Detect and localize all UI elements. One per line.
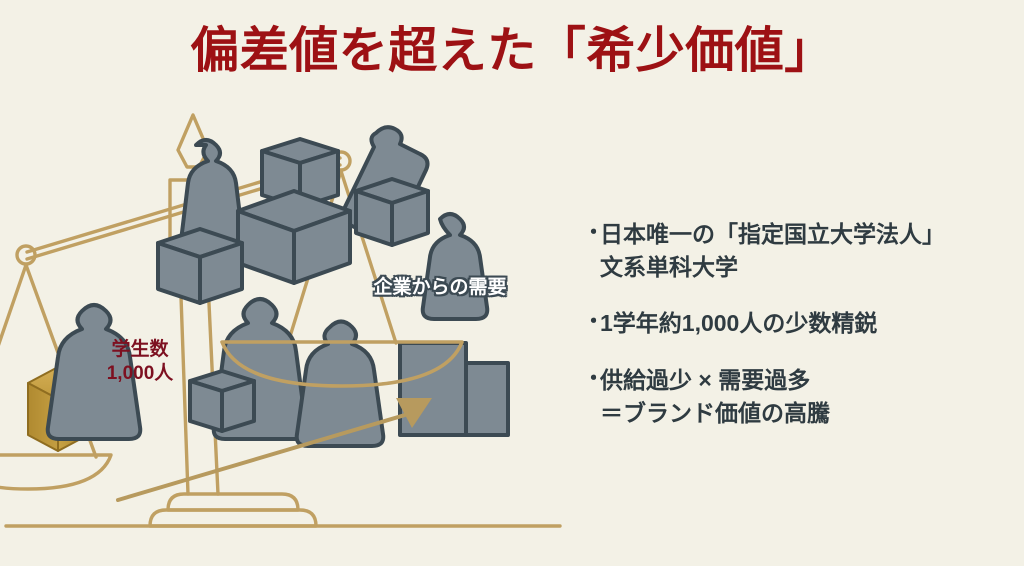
weight-mid-right (423, 214, 488, 319)
bullet-text-3: 供給過少 × 需要過多 ＝ブランド価値の高騰 (600, 364, 1008, 429)
left-pan-label: 学生数 1,000人 (55, 338, 225, 387)
cube-mid-left (158, 229, 242, 303)
block-wide-right (466, 363, 508, 435)
bullet-text-2: 1学年約1,000人の少数精鋭 (600, 307, 1008, 340)
bullet-marker-icon: ・ (583, 364, 600, 394)
bullet-text-1: 日本唯一の「指定国立大学法人」 文系単科大学 (600, 218, 1008, 283)
bullet-list: ・ 日本唯一の「指定国立大学法人」 文系単科大学 ・ 1学年約1,000人の少数… (583, 218, 1008, 453)
balance-scale-illustration (0, 95, 570, 565)
left-string-a (0, 265, 26, 457)
cube-upper-right (356, 179, 428, 245)
left-pan-bowl (0, 455, 111, 489)
bullet-marker-icon: ・ (583, 307, 600, 337)
base-upper (168, 494, 298, 510)
slide-canvas: 偏差値を超えた「希少価値」 (0, 0, 1024, 566)
left-beam-pivot (17, 246, 35, 264)
base-lower (150, 510, 316, 526)
bullet-item-1: ・ 日本唯一の「指定国立大学法人」 文系単科大学 (583, 218, 1008, 283)
bullet-item-2: ・ 1学年約1,000人の少数精鋭 (583, 307, 1008, 340)
right-pan-label: 企業からの需要 (340, 278, 540, 299)
bullet-marker-icon: ・ (583, 218, 600, 248)
bullet-item-3: ・ 供給過少 × 需要過多 ＝ブランド価値の高騰 (583, 364, 1008, 429)
page-title: 偏差値を超えた「希少価値」 (0, 22, 1024, 82)
cube-center (238, 191, 350, 283)
